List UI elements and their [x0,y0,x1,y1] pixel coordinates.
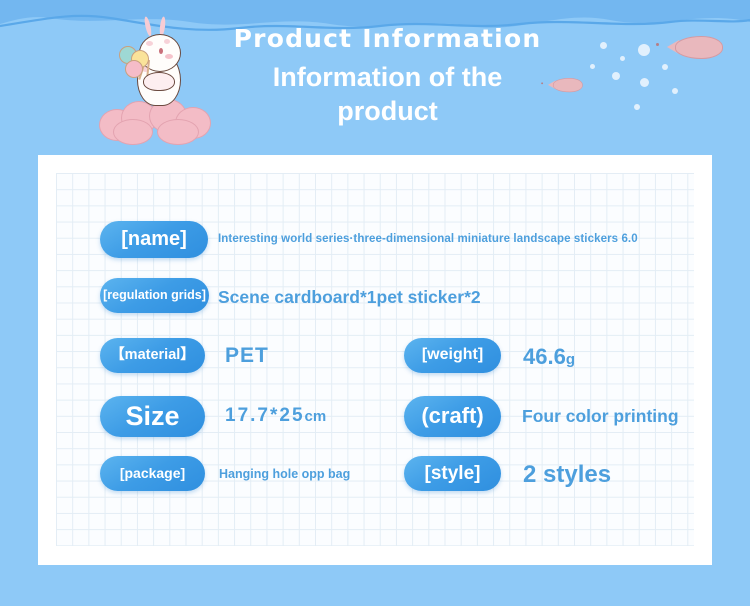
label-pill-material: 【material】 [100,338,205,373]
value-package: Hanging hole opp bag [219,467,350,481]
page-banner: Product Information Information of the p… [0,0,750,155]
value-size-number: 17.7*25 [225,405,305,426]
bubble-icon [600,42,607,49]
banner-subtitle: Information of the product [225,60,550,128]
banner-subtitle-line2: product [225,94,550,128]
value-weight-number: 46.6 [523,344,566,369]
label-pill-style: [style] [404,456,501,491]
label-pill-package: [package] [100,456,205,491]
value-craft: Four color printing [522,406,679,427]
label-pill-craft: (craft) [404,396,501,437]
value-weight: 46.6g [523,344,575,370]
value-regulation-grids: Scene cardboard*1pet sticker*2 [218,287,481,308]
bubble-icon [590,64,595,69]
label-pill-name: [name] [100,221,208,258]
value-size-unit: cm [305,408,327,425]
bubble-icon [620,56,625,61]
bubble-icon [640,78,649,87]
bubble-icon [638,44,650,56]
bubble-icon [672,88,678,94]
bubble-icon [634,104,640,110]
value-size: 17.7*25cm [225,405,326,427]
banner-subtitle-line1: Information of the [225,60,550,94]
value-weight-unit: g [566,351,575,368]
label-pill-regulation-grids: [regulation grids] [100,278,209,313]
label-pill-size: Size [100,396,205,437]
value-name: Interesting world series·three-dimension… [218,233,638,245]
value-material: PET [225,344,269,368]
bubble-icon [662,64,668,70]
banner-title: Product Information [185,24,590,53]
value-style: 2 styles [523,461,611,489]
label-pill-weight: [weight] [404,338,501,373]
bubble-icon [612,72,620,80]
